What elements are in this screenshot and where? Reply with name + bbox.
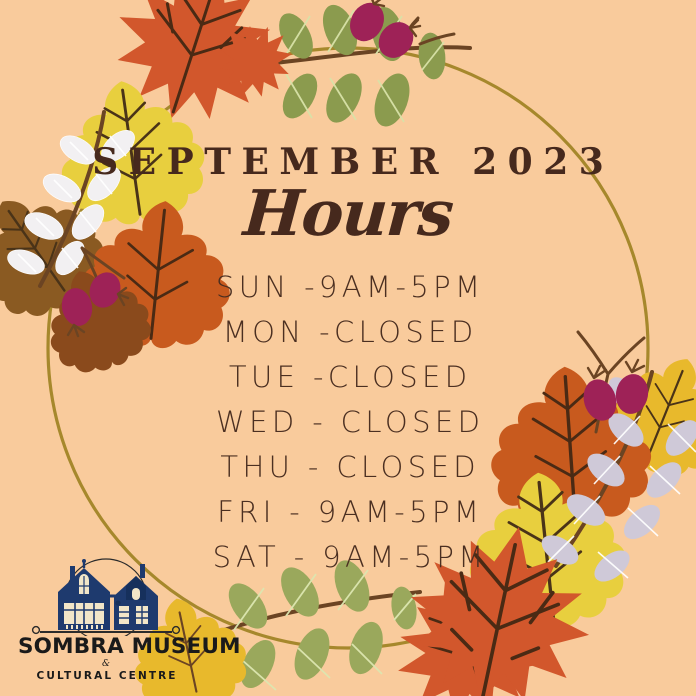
sombra-museum-logo: SOMBRA MUSEUM & CULTURAL CENTRE [18, 556, 194, 690]
logo-ampersand: & [18, 659, 194, 669]
hours-poster: SEPTEMBER 2023 Hours SUN -9AM-5PM MON -C… [0, 0, 696, 696]
logo-name: SOMBRA MUSEUM [18, 634, 194, 659]
top-right-branch [200, 0, 470, 131]
logo-subtitle: CULTURAL CENTRE [18, 670, 194, 682]
museum-house-icon [18, 556, 194, 636]
